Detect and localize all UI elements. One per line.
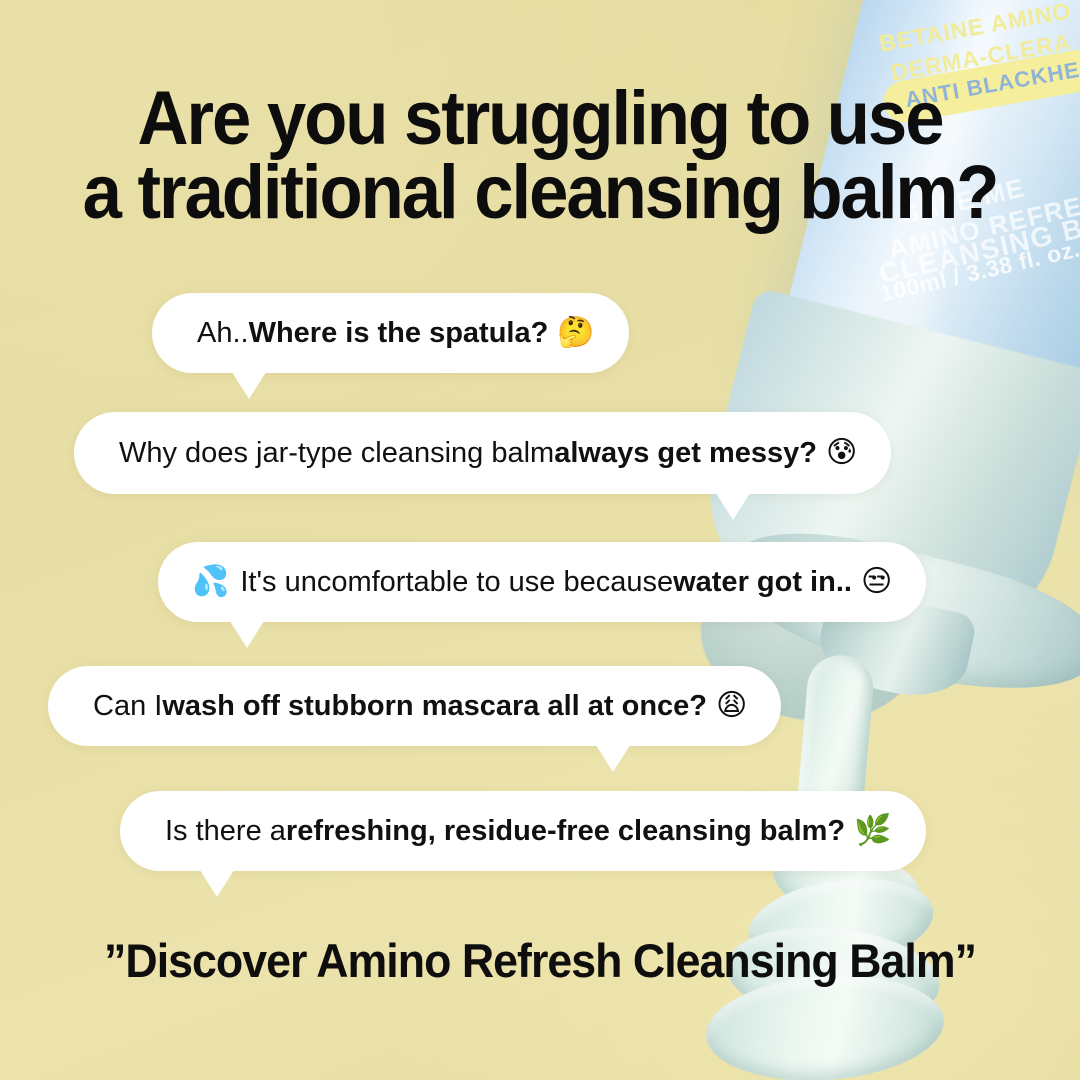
headline-line-2: a traditional cleansing balm? [38, 156, 1042, 230]
bubble-5-text-bold: refreshing, residue-free cleansing balm? [286, 815, 845, 848]
weary-face-emoji: 😩 [716, 691, 747, 721]
bubble-5-tail [198, 867, 236, 897]
speech-bubble-1: Ah.. Where is the spatula? 🤔 [152, 293, 629, 373]
bottle-volume-text: 100ml / 3.38 fl. oz. [878, 235, 1080, 307]
headline: Are you struggling to use a traditional … [38, 82, 1042, 229]
bubble-4-text-regular: Can I [93, 690, 162, 723]
thinking-face-emoji: 🤔 [557, 318, 594, 348]
speech-bubble-3: 💦 It's uncomfortable to use because wate… [158, 542, 926, 622]
bottle-label-line-1: BETAINE AMINO [877, 0, 1073, 58]
bubble-2-tail [714, 490, 752, 520]
tagline: ”Discover Amino Refresh Cleansing Balm” [27, 933, 1053, 988]
sweat-droplets-emoji: 💦 [192, 567, 229, 597]
bubble-3-text-regular: It's uncomfortable to use because [240, 566, 673, 599]
speech-bubble-2: Why does jar-type cleansing balm always … [74, 412, 891, 494]
speech-bubble-5: Is there a refreshing, residue-free clea… [120, 791, 926, 871]
bubble-1-tail [230, 369, 268, 399]
bubble-2-text-regular: Why does jar-type cleansing balm [119, 437, 554, 470]
headline-line-1: Are you struggling to use [38, 82, 1042, 156]
bubble-2-text-bold: always get messy? [554, 437, 817, 470]
bubble-1-text-regular: Ah.. [197, 317, 249, 350]
bubble-4-text-bold: wash off stubborn mascara all at once? [162, 690, 707, 723]
bubble-3-tail [228, 618, 266, 648]
bubble-5-text-regular: Is there a [165, 815, 286, 848]
herb-leaf-emoji: 🌿 [854, 816, 891, 846]
speech-bubble-4: Can I wash off stubborn mascara all at o… [48, 666, 781, 746]
ad-creative-canvas: BETAINE AMINO DERMA-CLERA ANTI BLACKHEAD… [0, 0, 1080, 1080]
bubble-3-text-bold: water got in.. [673, 566, 852, 599]
unamused-face-emoji: 😒 [861, 567, 892, 597]
bubble-4-tail [594, 742, 632, 772]
anxious-face-with-sweat-emoji: 😰 [826, 438, 857, 468]
bubble-1-text-bold: Where is the spatula? [249, 317, 549, 350]
